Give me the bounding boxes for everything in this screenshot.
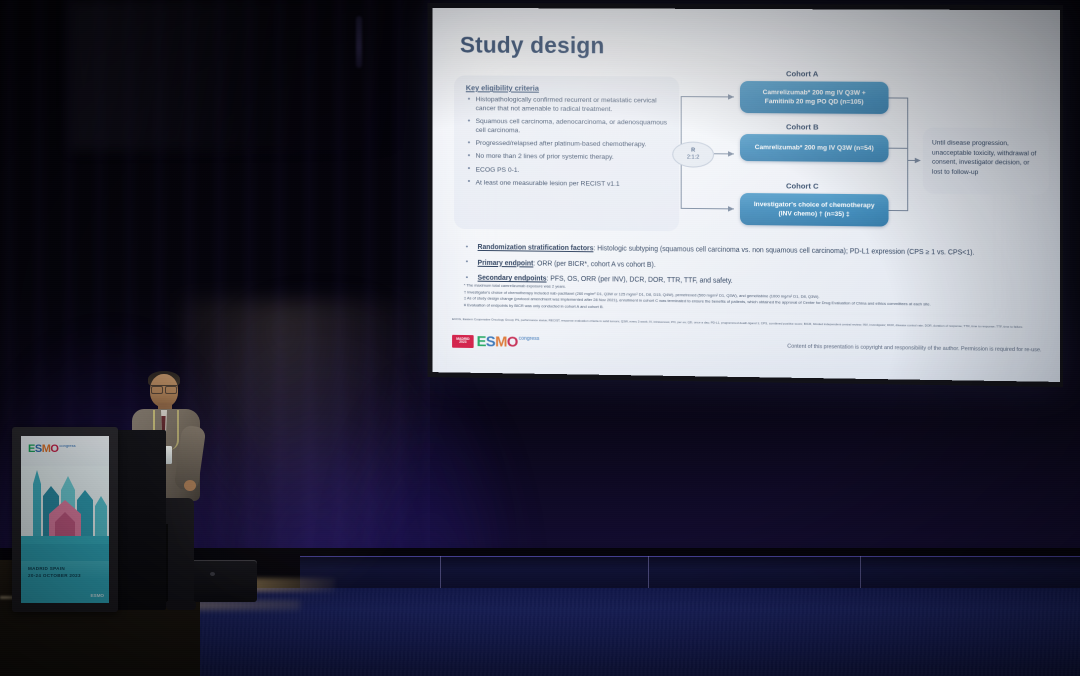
cohort-c-label: Cohort C bbox=[786, 181, 819, 190]
shoe bbox=[166, 600, 196, 610]
madrid-skyline-graphic bbox=[21, 466, 109, 561]
esmo-letter-m: M bbox=[42, 444, 51, 454]
cohort-b-label: Cohort B bbox=[786, 122, 819, 131]
list-item: At least one measurable lesion per RECIS… bbox=[468, 178, 669, 189]
leg-separation bbox=[166, 524, 168, 602]
abbreviations-text: ECOG, Eastern Cooperative Oncology Group… bbox=[452, 317, 1052, 330]
list-item: Squamous cell carcinoma, adenocarcinoma,… bbox=[468, 117, 669, 137]
esmo-letter-o: O bbox=[507, 335, 518, 348]
bullet-lead: Randomization stratification factors bbox=[478, 244, 594, 252]
bullet-lead: Primary endpoint bbox=[478, 259, 534, 267]
esmo-congress-logo: MADRID 2023 E S M O congress bbox=[452, 332, 546, 351]
slide-copyright-notice: Content of this presentation is copyrigh… bbox=[787, 344, 1041, 354]
esmo-letter-s: S bbox=[35, 444, 42, 454]
randomization-node: R 2:1:2 bbox=[672, 141, 714, 167]
eligibility-heading: Key eligibility criteria bbox=[466, 83, 539, 92]
eligibility-criteria-panel: Key eligibility criteria Histopathologic… bbox=[454, 75, 679, 231]
cohort-a-line2: Famitinib 20 mg PO QD (n=105) bbox=[765, 97, 864, 107]
esmo-letter-s: S bbox=[486, 335, 495, 348]
podium-corner-badge: ESMO bbox=[90, 593, 104, 598]
event-location: MADRID SPAIN bbox=[28, 566, 81, 571]
congress-word: congress bbox=[519, 335, 540, 341]
list-item: Progressed/relapsed after platinum-based… bbox=[468, 139, 669, 150]
riser-seam bbox=[648, 556, 649, 592]
list-item: Histopathologically confirmed recurrent … bbox=[468, 95, 669, 114]
randomization-label: R bbox=[691, 148, 695, 154]
riser-seam bbox=[860, 556, 861, 592]
treatment-duration-text: Until disease progression, unacceptable … bbox=[923, 127, 1049, 189]
year-label: 2023 bbox=[459, 341, 466, 344]
glasses-icon bbox=[151, 385, 177, 392]
projected-slide: Study design Key eligibility criteria Hi… bbox=[432, 8, 1059, 382]
bullet-lead: Secondary endpoints bbox=[478, 275, 547, 283]
conference-hall-photo: Study design Key eligibility criteria Hi… bbox=[0, 0, 1080, 676]
list-item: Randomization stratification factors: Hi… bbox=[454, 243, 1044, 260]
spotlight-beam bbox=[180, 300, 440, 600]
list-item: Primary endpoint: ORR (per BICR*, cohort… bbox=[454, 258, 1044, 275]
cohort-a-label: Cohort A bbox=[786, 69, 818, 78]
cohort-a-box: Camrelizumab* 200 mg IV Q3W + Famitinib … bbox=[740, 81, 889, 114]
list-item: ECOG PS 0-1. bbox=[468, 165, 669, 176]
cohort-c-line2: (INV chemo) † (n=35) ‡ bbox=[779, 209, 850, 219]
bullet-rest: : Histologic subtyping (squamous cell ca… bbox=[593, 245, 974, 256]
cohort-c-box: Investigator's choice of chemotherapy (I… bbox=[740, 193, 889, 227]
esmo-letter-e: E bbox=[28, 444, 35, 454]
madrid-2023-badge: MADRID 2023 bbox=[452, 334, 474, 347]
cohort-b-line1: Camrelizumab* 200 mg IV Q3W (n=54) bbox=[755, 143, 874, 153]
bullet-rest: : ORR (per BICR*, cohort A vs cohort B). bbox=[533, 260, 655, 268]
eligibility-list: Histopathologically confirmed recurrent … bbox=[454, 75, 679, 189]
treatment-duration-box: Until disease progression, unacceptable … bbox=[923, 127, 1049, 195]
slide-title: Study design bbox=[460, 32, 605, 60]
esmo-wordmark: E S M O congress bbox=[477, 335, 540, 349]
riser-seam bbox=[440, 556, 441, 592]
ceiling-rig bbox=[70, 0, 400, 150]
hanging-spotlight-icon bbox=[356, 16, 362, 68]
podium-branding-panel: E S M O congress MADRID SPAIN 20-24 OCTO… bbox=[21, 436, 109, 603]
randomization-ratio: 2:1:2 bbox=[687, 155, 699, 161]
podium-esmo-wordmark: E S M O congress bbox=[28, 444, 76, 454]
esmo-letter-m: M bbox=[495, 335, 507, 348]
cohort-b-box: Camrelizumab* 200 mg IV Q3W (n=54) bbox=[740, 134, 889, 162]
event-dates: 20-24 OCTOBER 2023 bbox=[28, 573, 81, 578]
esmo-letter-o: O bbox=[50, 444, 58, 454]
congress-word: congress bbox=[59, 443, 75, 448]
podium-event-details: MADRID SPAIN 20-24 OCTOBER 2023 bbox=[28, 566, 81, 578]
esmo-letter-e: E bbox=[477, 335, 486, 348]
list-item: No more than 2 lines of prior systemic t… bbox=[468, 152, 669, 163]
